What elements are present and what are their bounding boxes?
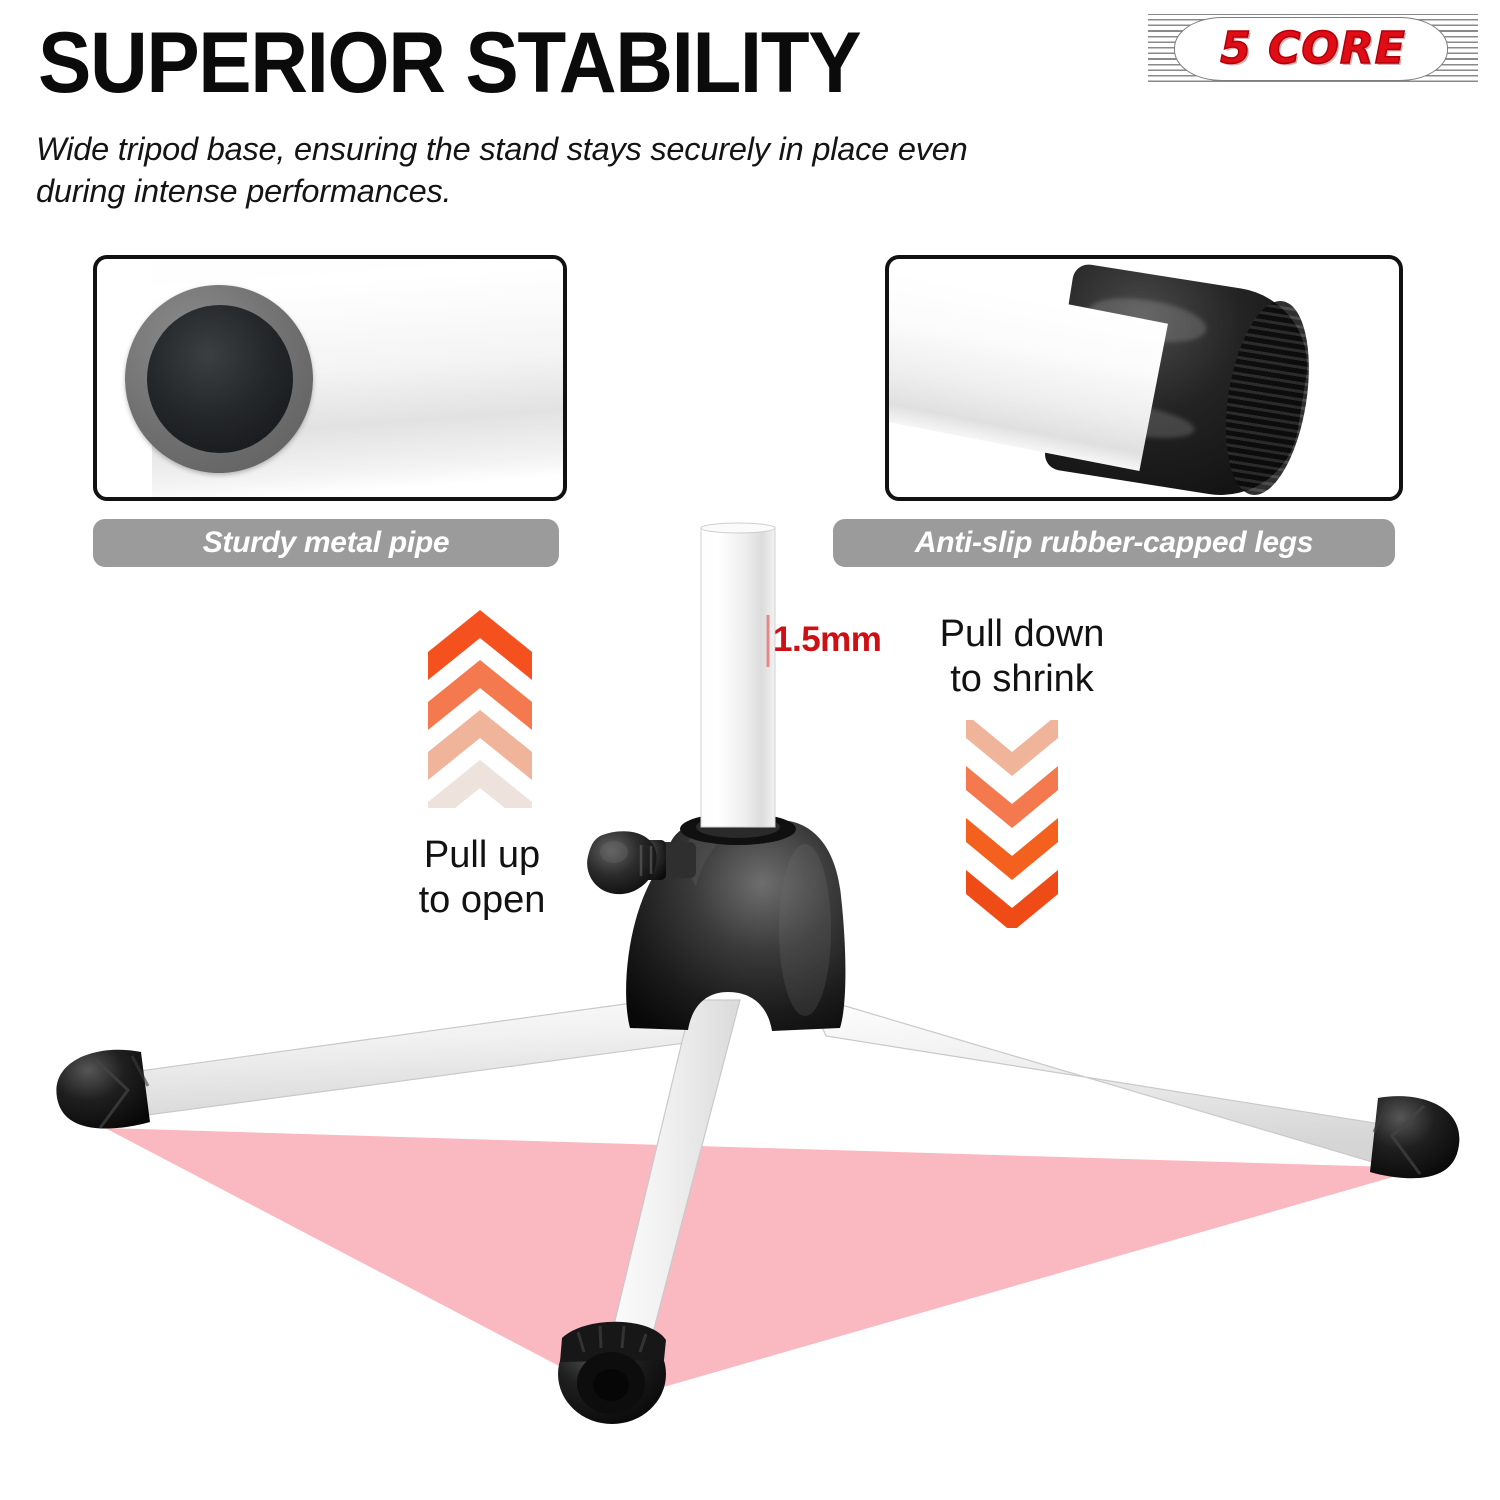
pull-down-chevrons bbox=[960, 720, 1064, 928]
thickness-label: 1.5mm bbox=[773, 620, 881, 660]
pull-down-hint: Pull down to shrink bbox=[928, 612, 1116, 702]
infographic-page: SUPERIOR STABILITY Wide tripod base, ens… bbox=[0, 0, 1500, 1500]
foot-cap-front bbox=[558, 1322, 666, 1424]
chevron-down-1 bbox=[966, 720, 1058, 776]
pull-up-chevrons bbox=[420, 608, 540, 808]
center-pipe bbox=[701, 523, 775, 827]
foot-cap-left bbox=[56, 1050, 150, 1129]
leg-right bbox=[808, 995, 1400, 1166]
stability-footprint-triangle bbox=[105, 1128, 1424, 1399]
pull-up-hint: Pull up to open bbox=[392, 833, 572, 923]
leg-left bbox=[118, 995, 700, 1116]
foot-cap-right bbox=[1370, 1096, 1459, 1178]
tripod-illustration bbox=[0, 0, 1500, 1500]
